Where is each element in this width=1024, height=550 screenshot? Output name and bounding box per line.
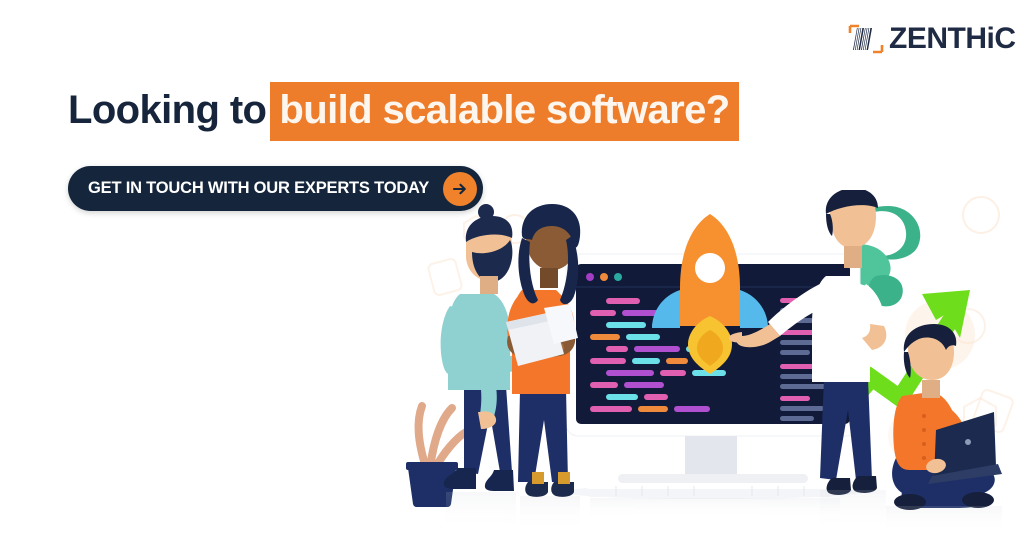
page-title: Looking tobuild scalable software? [68,90,739,130]
headline-plain-text: Looking to [68,88,266,132]
potted-plant-icon [406,406,466,507]
brand-logo-text: ZENTHiC [889,24,1016,54]
person-sitting-with-laptop [892,324,1002,510]
promo-banner: ZENTHiC Looking tobuild scalable softwar… [0,0,1024,550]
brand-logo[interactable]: ZENTHiC [848,24,1016,54]
white-keyboard [586,484,834,497]
logo-text-part2: C [994,22,1015,55]
cta-label: GET IN TOUCH WITH OUR EXPERTS TODAY [88,179,429,198]
team-building-software-illustration [380,190,1024,550]
zenthic-z-monogram-icon [848,24,884,54]
headline-highlight-text: build scalable software? [270,82,738,141]
logo-text-part1: ZENTH [889,22,987,55]
